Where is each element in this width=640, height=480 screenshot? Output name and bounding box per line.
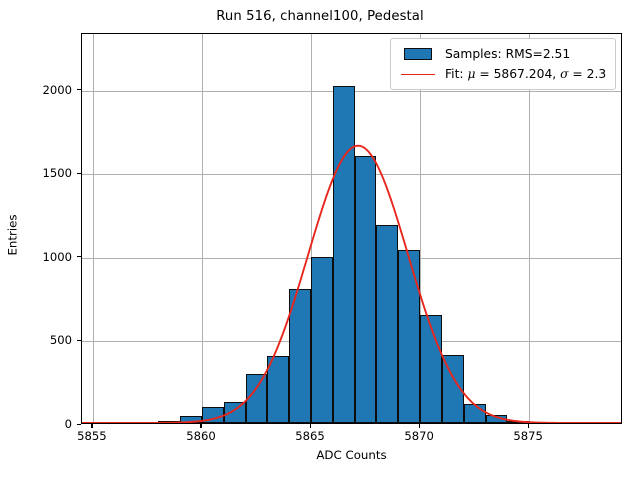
x-axis-label: ADC Counts (81, 448, 622, 462)
legend-fit-sigma-value: = 2.3 (569, 67, 607, 81)
plot-inner (82, 34, 621, 423)
y-tick-label: 0 (65, 417, 72, 431)
y-axis-label: Entries (6, 214, 20, 255)
y-tick-label: 500 (50, 333, 72, 347)
y-tick-mark (77, 173, 81, 174)
x-tick-mark (91, 424, 92, 428)
x-tick-label: 5875 (513, 429, 543, 443)
legend-label-samples: Samples: RMS=2.51 (445, 47, 570, 61)
x-tick-label: 5865 (295, 429, 325, 443)
page-title: Run 516, channel100, Pedestal (0, 9, 640, 24)
x-tick-label: 5870 (404, 429, 434, 443)
legend-patch-icon (398, 46, 438, 62)
fit-path (82, 146, 621, 423)
y-tick-mark (77, 424, 81, 425)
gaussian-fit-curve (82, 34, 621, 423)
y-tick-mark (77, 256, 81, 257)
y-tick-label: 1000 (42, 250, 72, 264)
x-tick-mark (528, 424, 529, 428)
y-tick-mark (77, 89, 81, 90)
legend: Samples: RMS=2.51 Fit: μ = 5867.204, σ =… (390, 38, 616, 90)
x-tick-mark (310, 424, 311, 428)
legend-label-fit: Fit: μ = 5867.204, σ = 2.3 (445, 67, 606, 81)
y-tick-label: 1500 (42, 166, 72, 180)
x-tick-mark (419, 424, 420, 428)
legend-line-icon (398, 66, 438, 82)
matplotlib-figure: Run 516, channel100, Pedestal 5855586058… (0, 0, 640, 480)
plot-area (81, 33, 622, 424)
legend-fit-prefix: Fit: (445, 67, 467, 81)
x-tick-label: 5855 (77, 429, 107, 443)
x-tick-mark (200, 424, 201, 428)
legend-fit-mu-value: = 5867.204, (475, 67, 560, 81)
legend-item-samples: Samples: RMS=2.51 (398, 44, 608, 64)
legend-fit-sigma-symbol: σ (560, 67, 568, 81)
y-tick-label: 2000 (42, 83, 72, 97)
x-tick-label: 5860 (186, 429, 216, 443)
y-tick-mark (77, 340, 81, 341)
legend-item-fit: Fit: μ = 5867.204, σ = 2.3 (398, 64, 608, 84)
